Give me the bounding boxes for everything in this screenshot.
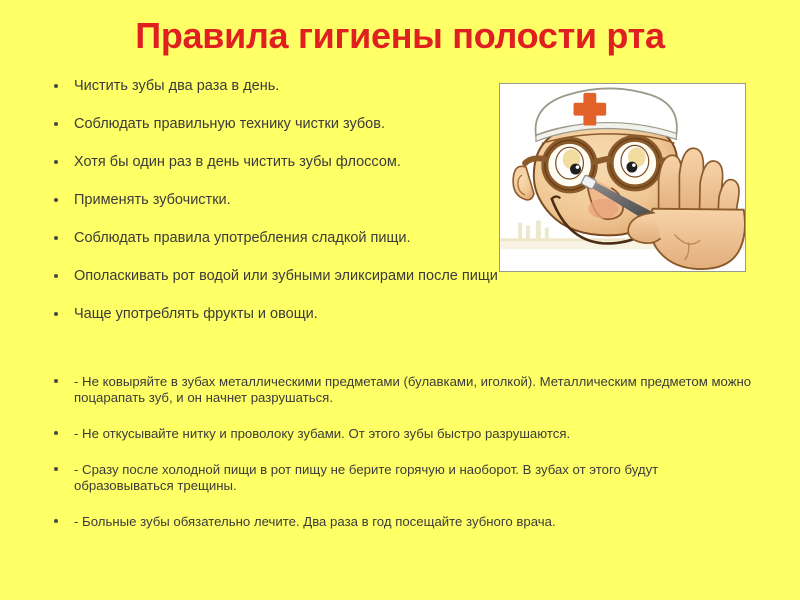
bullet-dot-icon	[54, 519, 58, 523]
list-item-label: - Не ковыряйте в зубах металлическими пр…	[74, 374, 760, 406]
dental-warnings-list: - Не ковыряйте в зубах металлическими пр…	[50, 374, 760, 550]
page-title: Правила гигиены полости рта	[0, 14, 800, 58]
list-item-label: Чаще употреблять фрукты и овощи.	[74, 306, 750, 323]
bullet-dot-icon	[54, 431, 58, 435]
list-item-label: - Больные зубы обязательно лечите. Два р…	[74, 514, 760, 530]
bullet-dot-icon	[54, 160, 58, 164]
bullet-dot-icon	[54, 274, 58, 278]
bullet-dot-icon	[54, 122, 58, 126]
bullet-dot-icon	[54, 236, 58, 240]
bullet-dot-icon	[54, 312, 58, 316]
dentist-illustration	[499, 83, 746, 272]
list-item: - Не ковыряйте в зубах металлическими пр…	[50, 374, 760, 406]
bullet-dot-icon	[54, 379, 58, 383]
list-item: - Сразу после холодной пищи в рот пищу н…	[50, 462, 760, 494]
bullet-dot-icon	[54, 198, 58, 202]
list-item: - Больные зубы обязательно лечите. Два р…	[50, 514, 760, 530]
list-item-label: - Сразу после холодной пищи в рот пищу н…	[74, 462, 760, 494]
bullet-dot-icon	[54, 84, 58, 88]
list-item: - Не откусывайте нитку и проволоку зубам…	[50, 426, 760, 442]
bullet-dot-icon	[54, 467, 58, 471]
cartoon-dentist-icon	[500, 84, 745, 271]
slide-root: Правила гигиены полости рта Чистить зубы…	[0, 0, 800, 600]
list-item-label: - Не откусывайте нитку и проволоку зубам…	[74, 426, 760, 442]
list-item: Чаще употреблять фрукты и овощи.	[50, 306, 750, 323]
